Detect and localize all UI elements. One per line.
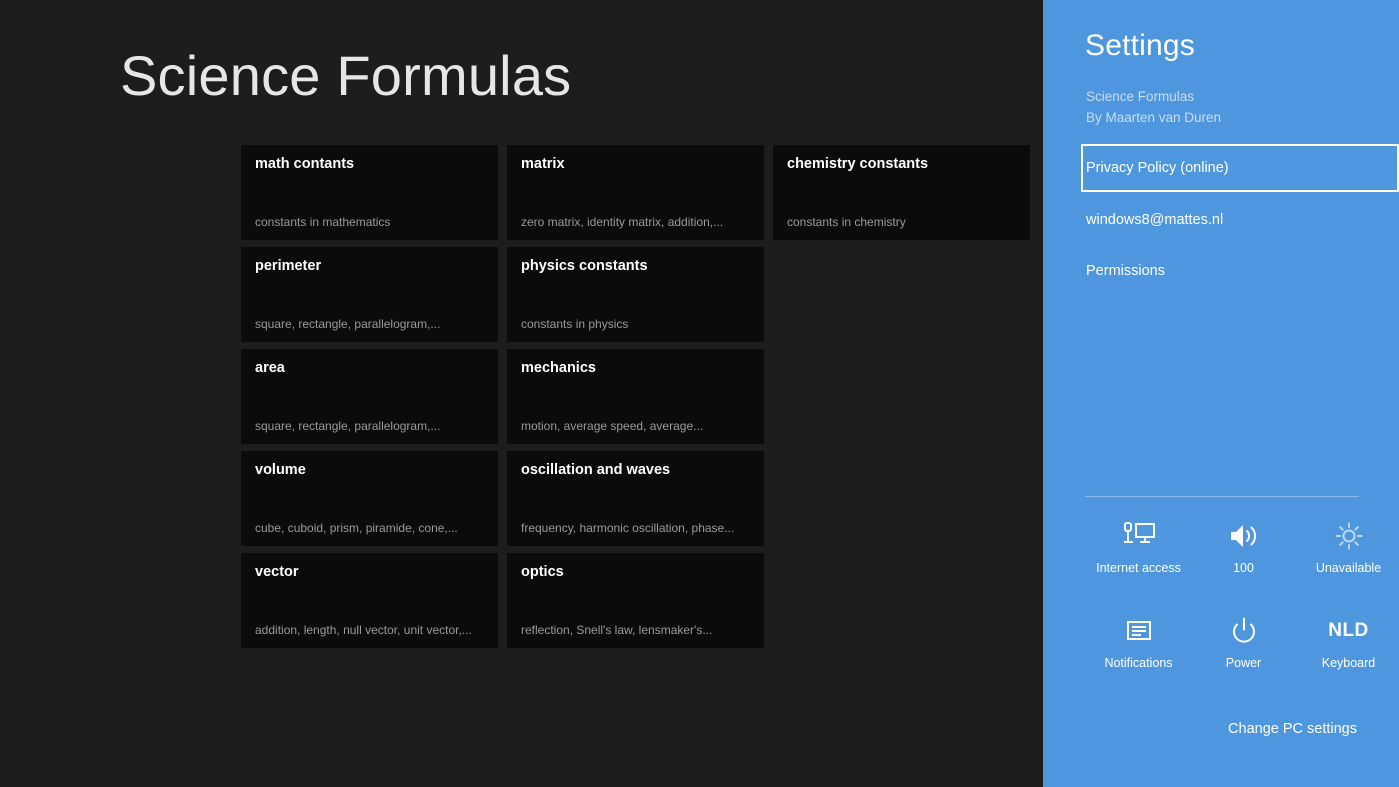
tile-mechanics[interactable]: mechanicsmotion, average speed, average.… [507, 349, 764, 444]
tile-title: chemistry constants [787, 156, 1016, 173]
quick-action-label: Unavailable [1316, 561, 1381, 575]
tile-title: vector [255, 564, 484, 581]
tile-title: area [255, 360, 484, 377]
tile-area[interactable]: areasquare, rectangle, parallelogram,... [241, 349, 498, 444]
quick-actions-row-1: Internet access100Unavailable [1086, 518, 1399, 575]
volume-icon [1227, 518, 1261, 554]
tile-optics[interactable]: opticsreflection, Snell's law, lensmaker… [507, 553, 764, 648]
tile-subtitle: constants in mathematics [255, 215, 486, 229]
desktop-screen: Science Formulas math contantsconstants … [0, 0, 1399, 787]
quick-action-label: Notifications [1104, 656, 1172, 670]
tile-math-contants[interactable]: math contantsconstants in mathematics [241, 145, 498, 240]
quick-action-100[interactable]: 100 [1191, 518, 1296, 575]
tile-volume[interactable]: volumecube, cuboid, prism, piramide, con… [241, 451, 498, 546]
settings-link-label: Privacy Policy (online) [1086, 160, 1229, 176]
tile-subtitle: addition, length, null vector, unit vect… [255, 623, 486, 637]
tile-subtitle: motion, average speed, average... [521, 419, 752, 433]
quick-action-keyboard[interactable]: NLDKeyboard [1296, 613, 1399, 670]
tile-title: volume [255, 462, 484, 479]
panel-divider [1085, 496, 1359, 497]
quick-action-label: Power [1226, 656, 1261, 670]
settings-link-label: windows8@mattes.nl [1086, 212, 1223, 228]
quick-actions-row-2: NotificationsPowerNLDKeyboard [1086, 613, 1399, 670]
tile-title: oscillation and waves [521, 462, 750, 479]
quick-action-unavailable[interactable]: Unavailable [1296, 518, 1399, 575]
change-pc-settings-link[interactable]: Change PC settings [1228, 721, 1357, 737]
tile-title: matrix [521, 156, 750, 173]
quick-action-power[interactable]: Power [1191, 613, 1296, 670]
keyboard-layout-code: NLD [1328, 620, 1369, 642]
tile-title: mechanics [521, 360, 750, 377]
app-info-block: Science Formulas By Maarten van Duren [1086, 87, 1221, 129]
settings-heading: Settings [1085, 29, 1195, 63]
tile-title: physics constants [521, 258, 750, 275]
tile-matrix[interactable]: matrixzero matrix, identity matrix, addi… [507, 145, 764, 240]
network-icon [1122, 518, 1156, 554]
tile-physics-constants[interactable]: physics constantsconstants in physics [507, 247, 764, 342]
quick-action-label: 100 [1233, 561, 1254, 575]
settings-link-privacy-policy-online[interactable]: Privacy Policy (online) [1083, 146, 1397, 190]
tile-oscillation-and-waves[interactable]: oscillation and wavesfrequency, harmonic… [507, 451, 764, 546]
quick-action-label: Keyboard [1322, 656, 1376, 670]
app-info-name: Science Formulas [1086, 87, 1221, 108]
tile-title: math contants [255, 156, 484, 173]
quick-actions-grid: Internet access100Unavailable Notificati… [1086, 518, 1399, 670]
tile-subtitle: square, rectangle, parallelogram,... [255, 419, 486, 433]
tile-subtitle: frequency, harmonic oscillation, phase..… [521, 521, 752, 535]
app-surface: Science Formulas math contantsconstants … [0, 0, 1043, 787]
tile-subtitle: cube, cuboid, prism, piramide, cone,... [255, 521, 486, 535]
app-info-author: By Maarten van Duren [1086, 108, 1221, 129]
tile-title: optics [521, 564, 750, 581]
tile-title: perimeter [255, 258, 484, 275]
settings-link-label: Permissions [1086, 263, 1165, 279]
tile-subtitle: constants in physics [521, 317, 752, 331]
quick-action-label: Internet access [1096, 561, 1181, 575]
power-icon [1227, 613, 1261, 649]
tile-perimeter[interactable]: perimetersquare, rectangle, parallelogra… [241, 247, 498, 342]
settings-link-permissions[interactable]: Permissions [1043, 253, 1399, 289]
notifications-icon [1122, 613, 1156, 649]
tile-vector[interactable]: vectoraddition, length, null vector, uni… [241, 553, 498, 648]
tile-chemistry-constants[interactable]: chemistry constantsconstants in chemistr… [773, 145, 1030, 240]
tile-subtitle: constants in chemistry [787, 215, 1018, 229]
page-title: Science Formulas [120, 45, 571, 107]
keyboard-icon: NLD [1328, 613, 1369, 649]
settings-link-windows8-mattes-nl[interactable]: windows8@mattes.nl [1043, 202, 1399, 238]
quick-action-internet-access[interactable]: Internet access [1086, 518, 1191, 575]
brightness-icon [1332, 518, 1366, 554]
tile-subtitle: reflection, Snell's law, lensmaker's... [521, 623, 752, 637]
settings-charm-panel: Settings Science Formulas By Maarten van… [1043, 0, 1399, 787]
quick-action-notifications[interactable]: Notifications [1086, 613, 1191, 670]
tile-subtitle: square, rectangle, parallelogram,... [255, 317, 486, 331]
tile-subtitle: zero matrix, identity matrix, addition,.… [521, 215, 752, 229]
